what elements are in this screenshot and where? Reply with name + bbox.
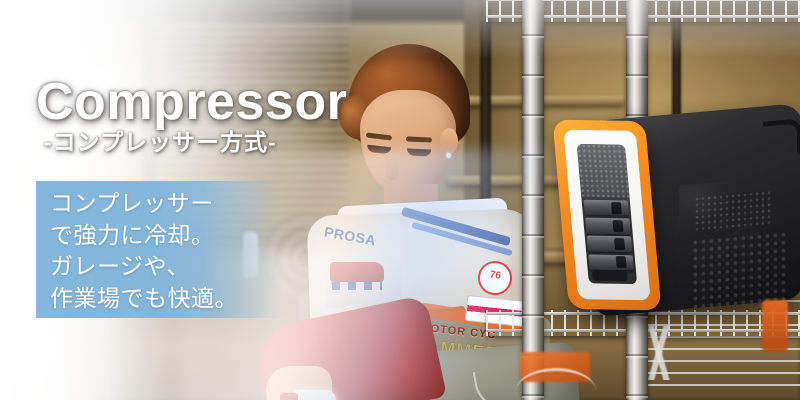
callout-line-4: 作業場でも快適。: [50, 283, 280, 315]
banner-subtitle: -コンプレッサー方式-: [44, 131, 277, 154]
callout-line-1: コンプレッサー: [50, 188, 280, 220]
callout-text: コンプレッサー で強力に冷却。 ガレージや、 作業場でも快適。: [50, 188, 280, 314]
banner-title: Compressor: [36, 76, 347, 128]
callout-line-2: で強力に冷却。: [50, 220, 280, 252]
callout-line-3: ガレージや、: [50, 251, 280, 283]
compressor-hero-banner: PROSA 76 MOTOR CYC HAMMER: [0, 0, 800, 400]
banner-text-layer: Compressor -コンプレッサー方式- コンプレッサー で強力に冷却。 ガ…: [0, 0, 800, 400]
